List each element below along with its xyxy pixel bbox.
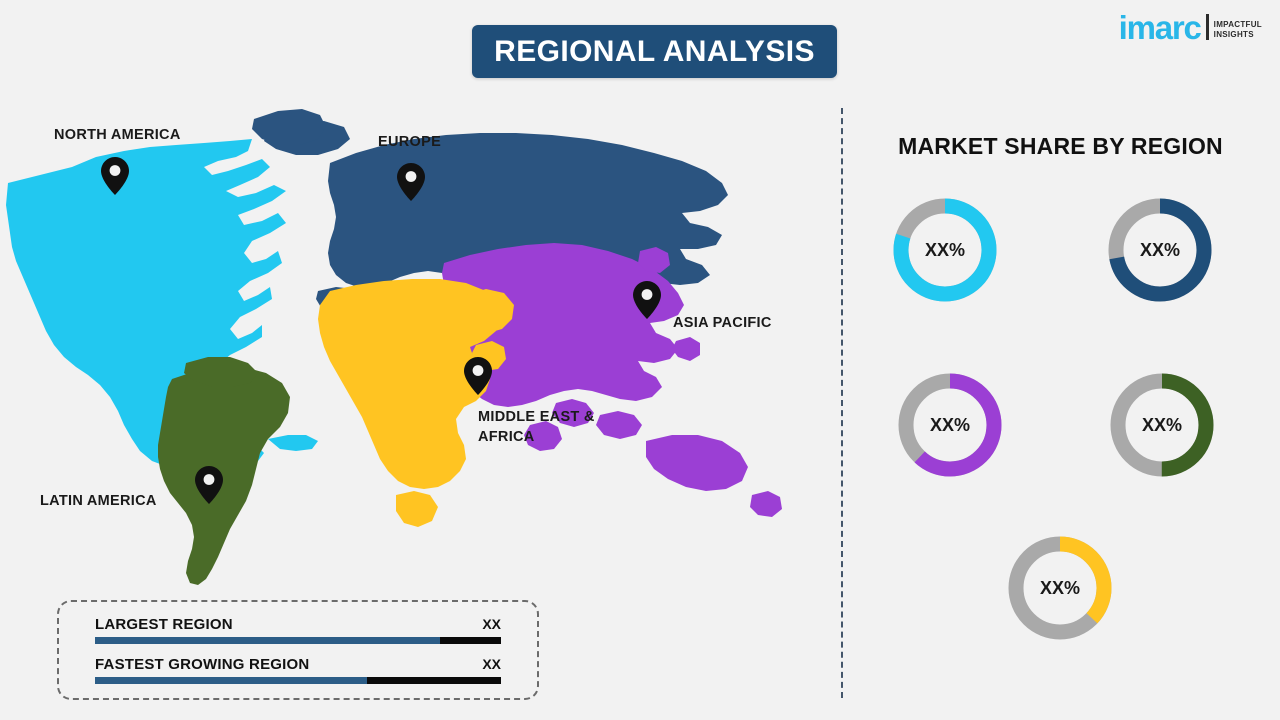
- donut-chart-latin-america: XX%: [1102, 365, 1222, 485]
- region-middle-east-africa: [318, 279, 514, 527]
- logo-tagline-line2: INSIGHTS: [1214, 30, 1262, 40]
- legend-row-largest-region: LARGEST REGION XX: [95, 616, 501, 644]
- logo-tagline: IMPACTFUL INSIGHTS: [1214, 20, 1262, 40]
- donut-chart-asia-pacific: XX%: [890, 365, 1010, 485]
- donut-label-latin-america: XX%: [1102, 365, 1222, 485]
- donut-chart-middle-east-africa: XX%: [1000, 528, 1120, 648]
- legend-label-largest-region: LARGEST REGION: [95, 616, 233, 633]
- page-title-banner: REGIONAL ANALYSIS: [472, 25, 837, 78]
- logo-tagline-line1: IMPACTFUL: [1214, 20, 1262, 30]
- region-greenland: [252, 109, 326, 145]
- market-share-panel-title: MARKET SHARE BY REGION: [841, 133, 1280, 160]
- donut-label-middle-east-africa: XX%: [1000, 528, 1120, 648]
- legend-value-largest-region: XX: [482, 616, 501, 632]
- legend-bar-fill-fastest-growing-region: [95, 677, 367, 684]
- logo-divider-bar: [1206, 14, 1209, 40]
- legend-row-fastest-growing-region: FASTEST GROWING REGION XX: [95, 656, 501, 684]
- region-latin-america: [158, 357, 290, 585]
- map-label-north-america: NORTH AMERICA: [54, 126, 181, 146]
- donut-label-north-america: XX%: [885, 190, 1005, 310]
- logo-wordmark: imarc: [1119, 14, 1201, 42]
- infographic-canvas: REGIONAL ANALYSIS imarc IMPACTFUL INSIGH…: [0, 0, 1280, 720]
- map-pin-icon-middle-east-africa[interactable]: [464, 357, 492, 395]
- legend-label-fastest-growing-region: FASTEST GROWING REGION: [95, 656, 309, 673]
- map-pin-icon-north-america[interactable]: [101, 157, 129, 195]
- donut-label-asia-pacific: XX%: [890, 365, 1010, 485]
- map-label-asia-pacific: ASIA PACIFIC: [673, 314, 772, 334]
- panel-divider: [841, 108, 843, 698]
- region-summary-box: LARGEST REGION XX FASTEST GROWING REGION…: [57, 600, 539, 700]
- map-label-middle-east-africa: MIDDLE EAST & AFRICA: [478, 408, 595, 447]
- map-label-europe: EUROPE: [378, 133, 441, 153]
- imarc-logo: imarc IMPACTFUL INSIGHTS: [1119, 14, 1262, 42]
- map-pin-icon-latin-america[interactable]: [195, 466, 223, 504]
- map-pin-icon-europe[interactable]: [397, 163, 425, 201]
- legend-value-fastest-growing-region: XX: [482, 656, 501, 672]
- donut-chart-north-america: XX%: [885, 190, 1005, 310]
- map-label-latin-america: LATIN AMERICA: [40, 492, 157, 512]
- legend-bar-track-fastest-growing-region: [95, 677, 501, 684]
- legend-bar-track-largest-region: [95, 637, 501, 644]
- donut-chart-europe: XX%: [1100, 190, 1220, 310]
- map-pin-icon-asia-pacific[interactable]: [633, 281, 661, 319]
- legend-bar-fill-largest-region: [95, 637, 440, 644]
- page-title: REGIONAL ANALYSIS: [494, 35, 815, 69]
- donut-label-europe: XX%: [1100, 190, 1220, 310]
